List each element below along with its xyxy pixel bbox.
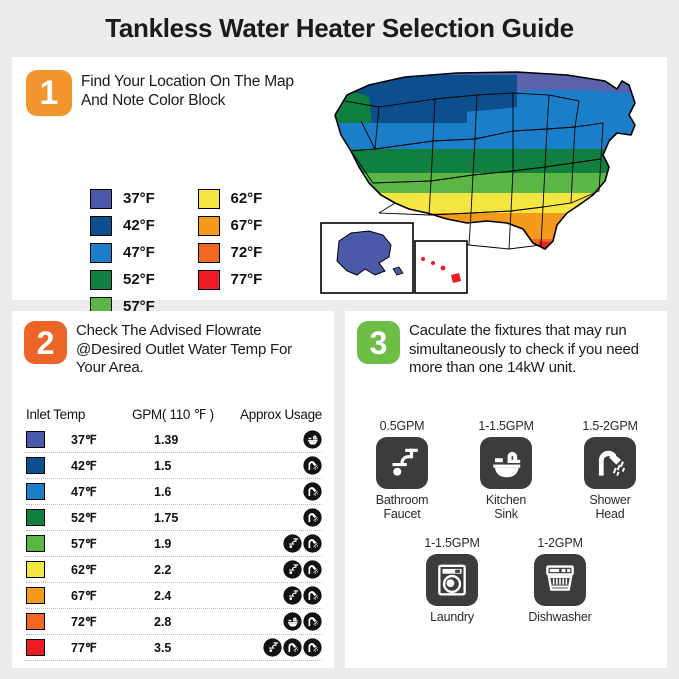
- table-header-row: Inlet Temp GPM( 110 ℉ ) Approx Usage: [26, 407, 322, 427]
- shower-icon: [303, 508, 322, 527]
- row-inlet-temp: 42℉: [71, 458, 97, 473]
- fixture-name: ShowerHead: [567, 493, 653, 522]
- infographic-page: Tankless Water Heater Selection Guide 1 …: [0, 0, 679, 679]
- alaska-inset: [321, 223, 413, 293]
- color-swatch-icon: [90, 189, 112, 209]
- fixture-name: KitchenSink: [463, 493, 549, 522]
- bathroom-faucet-icon: [376, 437, 428, 489]
- column-header-inlet-temp: Inlet Temp: [26, 407, 132, 422]
- legend-item: 52°F: [90, 266, 198, 293]
- step-3-header: 3 Caculate the fixtures that may run sim…: [357, 321, 662, 378]
- row-inlet-temp: 37℉: [71, 432, 97, 447]
- row-gpm: 1.75: [132, 511, 178, 525]
- row-color-swatch-icon: [26, 561, 45, 578]
- legend-item: 37°F: [90, 185, 198, 212]
- step-3-text: Caculate the fixtures that may run simul…: [409, 321, 662, 378]
- fixture-item: 1.5-2GPMShowerHead: [567, 419, 653, 522]
- legend-item: 72°F: [198, 239, 306, 266]
- fixture-gpm: 0.5GPM: [359, 419, 445, 433]
- table-row: 52℉1.75: [26, 505, 322, 531]
- legend-item-label: 47°F: [123, 244, 155, 261]
- table-row: 42℉1.5: [26, 453, 322, 479]
- fixture-gpm: 1-2GPM: [517, 536, 603, 550]
- sink-icon: [303, 430, 322, 449]
- legend-item-label: 42°F: [123, 217, 155, 234]
- row-approx-usage: [230, 430, 322, 449]
- fixtures-row-2: 1-1.5GPMLaundry1-2GPMDishwasher: [355, 536, 657, 624]
- column-header-gpm: GPM( 110 ℉ ): [132, 407, 230, 423]
- fixture-name: BathroomFaucet: [359, 493, 445, 522]
- row-approx-usage: [230, 534, 322, 553]
- color-swatch-icon: [90, 243, 112, 263]
- sink-icon: [283, 612, 302, 631]
- fixture-gpm: 1-1.5GPM: [463, 419, 549, 433]
- shower-icon: [303, 586, 322, 605]
- row-inlet-temp: 52℉: [71, 510, 97, 525]
- kitchen-sink-icon: [480, 437, 532, 489]
- row-gpm: 1.6: [132, 485, 171, 499]
- temperature-legend: 37°F42°F47°F52°F57°F 62°F67°F72°F77°F: [90, 185, 305, 320]
- shower-icon: [283, 638, 302, 657]
- step-3-panel: 3 Caculate the fixtures that may run sim…: [345, 311, 667, 668]
- row-approx-usage: [230, 508, 322, 527]
- step-1-badge: 1: [26, 70, 72, 116]
- fixtures-row-1: 0.5GPMBathroomFaucet1-1.5GPMKitchenSink1…: [355, 419, 657, 522]
- shower-icon: [303, 560, 322, 579]
- color-swatch-icon: [198, 270, 220, 290]
- legend-item-label: 37°F: [123, 190, 155, 207]
- row-gpm: 1.9: [132, 537, 171, 551]
- step-2-header: 2 Check The Advised Flowrate @Desired Ou…: [24, 321, 324, 378]
- fixture-item: 1-1.5GPMLaundry: [409, 536, 495, 624]
- row-gpm: 2.8: [132, 615, 171, 629]
- step-3-badge: 3: [357, 321, 400, 364]
- legend-item: 47°F: [90, 239, 198, 266]
- color-swatch-icon: [198, 189, 220, 209]
- flowrate-table: Inlet Temp GPM( 110 ℉ ) Approx Usage 37℉…: [26, 407, 322, 661]
- table-row: 47℉1.6: [26, 479, 322, 505]
- shower-icon: [303, 456, 322, 475]
- row-gpm: 2.2: [132, 563, 171, 577]
- faucet-icon: [283, 586, 302, 605]
- color-swatch-icon: [90, 216, 112, 236]
- step-1-panel: 1 Find Your Location On The Map And Note…: [12, 57, 667, 300]
- legend-item-label: 72°F: [231, 244, 263, 261]
- row-approx-usage: [230, 586, 322, 605]
- table-row: 62℉2.2: [26, 557, 322, 583]
- legend-column-right: 62°F67°F72°F77°F: [198, 185, 306, 320]
- row-gpm: 3.5: [132, 641, 171, 655]
- shower-icon: [303, 482, 322, 501]
- row-gpm: 1.5: [132, 459, 171, 473]
- row-inlet-temp: 67℉: [71, 588, 97, 603]
- legend-column-left: 37°F42°F47°F52°F57°F: [90, 185, 198, 320]
- fixtures-grid: 0.5GPMBathroomFaucet1-1.5GPMKitchenSink1…: [355, 419, 657, 624]
- faucet-icon: [283, 560, 302, 579]
- legend-item-label: 52°F: [123, 271, 155, 288]
- us-groundwater-temperature-map: [317, 63, 662, 298]
- legend-item-label: 67°F: [231, 217, 263, 234]
- faucet-icon: [283, 534, 302, 553]
- legend-item: 42°F: [90, 212, 198, 239]
- row-approx-usage: [230, 482, 322, 501]
- table-body: 37℉1.3942℉1.547℉1.652℉1.7557℉1.962℉2.267…: [26, 427, 322, 661]
- fixture-item: 0.5GPMBathroomFaucet: [359, 419, 445, 522]
- shower-icon: [303, 612, 322, 631]
- step-1-text: Find Your Location On The Map And Note C…: [81, 70, 301, 110]
- fixture-item: 1-1.5GPMKitchenSink: [463, 419, 549, 522]
- shower-icon: [303, 638, 322, 657]
- legend-item-label: 77°F: [231, 271, 263, 288]
- column-header-approx-usage: Approx Usage: [230, 407, 322, 422]
- row-color-swatch-icon: [26, 639, 45, 656]
- legend-item: 77°F: [198, 266, 306, 293]
- row-color-swatch-icon: [26, 431, 45, 448]
- color-swatch-icon: [198, 216, 220, 236]
- laundry-icon: [426, 554, 478, 606]
- fixture-item: 1-2GPMDishwasher: [517, 536, 603, 624]
- legend-item: 62°F: [198, 185, 306, 212]
- table-row: 67℉2.4: [26, 583, 322, 609]
- table-row: 57℉1.9: [26, 531, 322, 557]
- dishwasher-icon: [534, 554, 586, 606]
- row-approx-usage: [230, 560, 322, 579]
- row-color-swatch-icon: [26, 457, 45, 474]
- table-row: 37℉1.39: [26, 427, 322, 453]
- row-color-swatch-icon: [26, 509, 45, 526]
- hawaii-inset: [415, 241, 467, 293]
- legend-item: 67°F: [198, 212, 306, 239]
- row-inlet-temp: 57℉: [71, 536, 97, 551]
- shower-head-icon: [584, 437, 636, 489]
- row-approx-usage: [230, 612, 322, 631]
- page-title: Tankless Water Heater Selection Guide: [0, 0, 679, 58]
- row-color-swatch-icon: [26, 613, 45, 630]
- step-1-header: 1 Find Your Location On The Map And Note…: [26, 70, 301, 116]
- row-color-swatch-icon: [26, 483, 45, 500]
- step-2-text: Check The Advised Flowrate @Desired Outl…: [76, 321, 324, 378]
- row-inlet-temp: 47℉: [71, 484, 97, 499]
- fixture-name: Dishwasher: [517, 610, 603, 624]
- shower-icon: [303, 534, 322, 553]
- row-inlet-temp: 77℉: [71, 640, 97, 655]
- row-gpm: 1.39: [132, 433, 178, 447]
- row-approx-usage: [230, 456, 322, 475]
- row-inlet-temp: 62℉: [71, 562, 97, 577]
- table-row: 77℉3.5: [26, 635, 322, 661]
- row-gpm: 2.4: [132, 589, 171, 603]
- faucet-icon: [263, 638, 282, 657]
- row-color-swatch-icon: [26, 587, 45, 604]
- row-approx-usage: [230, 638, 322, 657]
- step-2-badge: 2: [24, 321, 67, 364]
- legend-item-label: 62°F: [231, 190, 263, 207]
- fixture-gpm: 1-1.5GPM: [409, 536, 495, 550]
- fixture-name: Laundry: [409, 610, 495, 624]
- color-swatch-icon: [90, 270, 112, 290]
- color-swatch-icon: [198, 243, 220, 263]
- fixture-gpm: 1.5-2GPM: [567, 419, 653, 433]
- step-2-panel: 2 Check The Advised Flowrate @Desired Ou…: [12, 311, 334, 668]
- table-row: 72℉2.8: [26, 609, 322, 635]
- row-color-swatch-icon: [26, 535, 45, 552]
- row-inlet-temp: 72℉: [71, 614, 97, 629]
